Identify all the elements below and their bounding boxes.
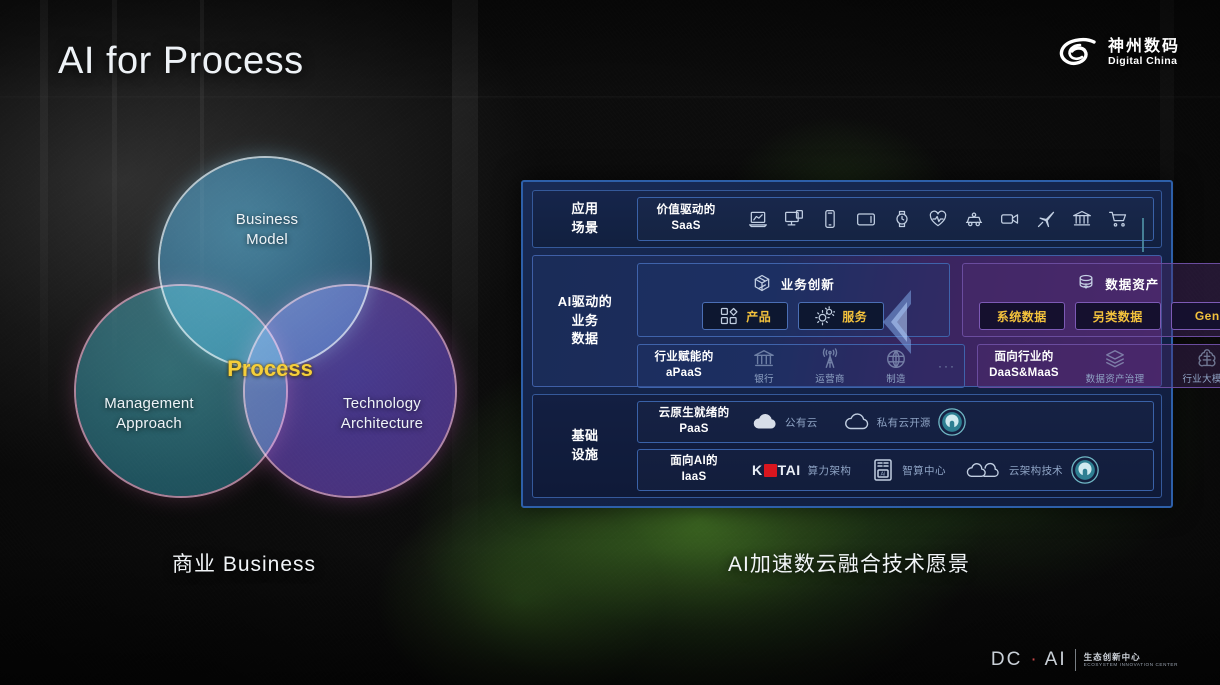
brand-name-en: Digital China xyxy=(1108,56,1180,67)
footer-center-en: ECOSYSTEM INNOVATION CENTER xyxy=(1084,662,1178,667)
chip-alternative-data[interactable]: 另类数据 xyxy=(1075,302,1161,330)
chip-product-label: 产品 xyxy=(746,308,771,325)
item-private-cloud-label: 私有云 xyxy=(877,415,910,430)
venn-circle-technology xyxy=(245,286,455,496)
saas-strip: 价值驱动的 SaaS xyxy=(637,197,1154,241)
footer-divider xyxy=(1075,649,1076,671)
iaas-strip: 面向AI的 IaaS K TAI 算力架构 xyxy=(637,449,1154,491)
cloud-filled-icon xyxy=(752,409,778,435)
openeuler-badge-icon xyxy=(937,407,967,437)
heartbeat-icon xyxy=(928,209,948,229)
venn-label-process: Process xyxy=(210,356,330,382)
footer-dot: · xyxy=(1030,649,1036,671)
row-infrastructure: 基础 设施 云原生就绪的 PaaS 公有云 xyxy=(532,394,1162,498)
data-assets-chips: 系统数据 另类数据 GenAI xyxy=(971,302,1220,330)
brand-logo: 神州数码 Digital China xyxy=(1058,36,1180,70)
kutai-logo: K TAI xyxy=(752,462,801,478)
row-label-application: 应用 场景 xyxy=(533,191,637,247)
business-innovation-chips: 产品 服务 xyxy=(646,302,941,330)
tile-data-governance: 数据资产治理 xyxy=(1078,348,1152,385)
footer-center-cn: 生态创新中心 xyxy=(1084,653,1178,662)
chip-system-data[interactable]: 系统数据 xyxy=(979,302,1065,330)
chip-service-label: 服务 xyxy=(842,308,867,325)
bank-icon xyxy=(1072,209,1092,229)
technology-tail: 技术 xyxy=(1042,455,1100,485)
spiral-logo-icon xyxy=(1058,36,1098,70)
layered-data-icon xyxy=(1104,348,1126,370)
video-camera-icon xyxy=(1000,209,1020,229)
tile-bank-label: 银行 xyxy=(754,371,774,385)
laptop-chart-icon xyxy=(748,209,768,229)
chip-service[interactable]: 服务 xyxy=(798,302,884,330)
apaas-more: ··· xyxy=(938,359,956,373)
desktop-monitor-icon xyxy=(784,209,804,229)
page-title: AI for Process xyxy=(58,40,304,83)
openeuler-badge-icon xyxy=(1070,455,1100,485)
opensource-label: 开源 xyxy=(909,415,930,430)
paas-strip: 云原生就绪的 PaaS 公有云 xyxy=(637,401,1154,443)
cube-network-icon xyxy=(752,273,772,293)
scenario-icon-strip xyxy=(748,209,1128,229)
row-label-infrastructure: 基础 设施 xyxy=(533,395,637,497)
airplane-icon xyxy=(1036,209,1056,229)
brain-chip-icon xyxy=(1196,348,1218,370)
tile-manufacturing: 制造 xyxy=(868,348,924,385)
item-ai-datacenter: AI 智算中心 xyxy=(871,458,946,482)
chip-product[interactable]: 产品 xyxy=(702,302,788,330)
chip-system-data-label: 系统数据 xyxy=(997,308,1047,325)
tile-bank: 银行 xyxy=(736,348,792,385)
smartphone-icon xyxy=(820,209,840,229)
technology-label: 技术 xyxy=(1042,463,1063,478)
brand-name-cn: 神州数码 xyxy=(1108,39,1180,56)
item-ai-datacenter-label: 智算中心 xyxy=(902,463,946,478)
venn-label-business: Business Model xyxy=(207,210,327,249)
tile-telecom: 运营商 xyxy=(802,348,858,385)
kutai-suffix: TAI xyxy=(778,462,801,478)
database-icon xyxy=(1076,273,1096,293)
slide-root: AI for Process 神州数码 Digital China Busine… xyxy=(0,0,1220,685)
daas-maas-strip: 面向行业的 DaaS&MaaS 数据资产治理 行业大模型 AI xyxy=(977,344,1220,388)
opensource-tail: 开源 xyxy=(909,407,967,437)
kutai-prefix: K xyxy=(752,462,763,478)
chip-genai-label: GenAI xyxy=(1195,309,1220,323)
item-public-cloud-label: 公有云 xyxy=(785,415,818,430)
venn-diagram: Business Model Management Approach Techn… xyxy=(62,158,462,518)
item-kutai-compute: K TAI 算力架构 xyxy=(752,462,851,478)
paas-title: 云原生就绪的 PaaS xyxy=(656,406,732,437)
apaas-title: 行业赋能的 aPaaS xyxy=(646,350,722,381)
tile-manufacturing-label: 制造 xyxy=(886,371,906,385)
row-ai-driven-business-data: AI驱动的 业务 数据 业务创新 xyxy=(532,255,1162,387)
cloud-outline-icon xyxy=(844,409,870,435)
chip-genai[interactable]: GenAI xyxy=(1171,302,1220,330)
tile-industry-llm: 行业大模型 xyxy=(1170,348,1220,385)
item-kutai-label: 算力架构 xyxy=(808,463,852,478)
blocks-icon xyxy=(719,306,739,326)
shopping-cart-icon xyxy=(1108,209,1128,229)
row-application-scenarios: 应用 场景 价值驱动的 SaaS xyxy=(532,190,1162,248)
gears-icon xyxy=(815,306,835,326)
iaas-title: 面向AI的 IaaS xyxy=(656,454,732,485)
row-label-ai-driven: AI驱动的 业务 数据 xyxy=(533,256,637,386)
telecom-tower-icon xyxy=(819,348,841,370)
business-innovation-title: 业务创新 xyxy=(781,274,835,293)
data-assets-group: 数据资产 系统数据 另类数据 GenAI xyxy=(962,263,1220,337)
smartwatch-icon xyxy=(892,209,912,229)
data-assets-title: 数据资产 xyxy=(1105,274,1159,293)
euler-connector-line xyxy=(1142,218,1144,252)
item-public-cloud: 公有云 xyxy=(752,409,818,435)
footer-ai: AI xyxy=(1045,649,1067,671)
tech-architecture-panel: 应用 场景 价值驱动的 SaaS xyxy=(521,180,1173,508)
footer-dc: DC xyxy=(991,649,1022,671)
caption-business: 商业 Business xyxy=(172,548,316,578)
multi-cloud-icon xyxy=(966,458,1002,482)
data-assets-head: 数据资产 xyxy=(971,270,1220,296)
business-innovation-head: 业务创新 xyxy=(646,270,941,296)
venn-label-technology: Technology Architecture xyxy=(307,394,457,433)
car-icon xyxy=(964,209,984,229)
item-multi-cloud: 云架构 xyxy=(966,458,1042,482)
tile-industry-llm-label: 行业大模型 xyxy=(1182,371,1220,385)
tile-data-governance-label: 数据资产治理 xyxy=(1086,371,1145,385)
apaas-strip: 行业赋能的 aPaaS 银行 运营商 xyxy=(637,344,965,388)
item-multi-cloud-label: 云架构 xyxy=(1009,463,1042,478)
chip-alternative-data-label: 另类数据 xyxy=(1093,308,1143,325)
tile-telecom-label: 运营商 xyxy=(815,371,844,385)
item-private-cloud: 私有云 xyxy=(844,409,910,435)
business-innovation-group: 业务创新 产品 服务 xyxy=(637,263,950,337)
bank-icon xyxy=(753,348,775,370)
footer-brand-mark: DC · AI 生态创新中心 ECOSYSTEM INNOVATION CENT… xyxy=(991,649,1178,671)
manufacturing-icon xyxy=(885,348,907,370)
daas-maas-title: 面向行业的 DaaS&MaaS xyxy=(986,350,1062,381)
venn-label-management: Management Approach xyxy=(74,394,224,433)
svg-text:AI: AI xyxy=(881,472,886,478)
ai-datacenter-icon: AI xyxy=(871,458,895,482)
caption-tech-vision: AI加速数云融合技术愿景 xyxy=(728,548,970,578)
saas-title: 价值驱动的 SaaS xyxy=(648,203,724,234)
tablet-icon xyxy=(856,209,876,229)
kutai-red-block-icon xyxy=(764,464,777,477)
